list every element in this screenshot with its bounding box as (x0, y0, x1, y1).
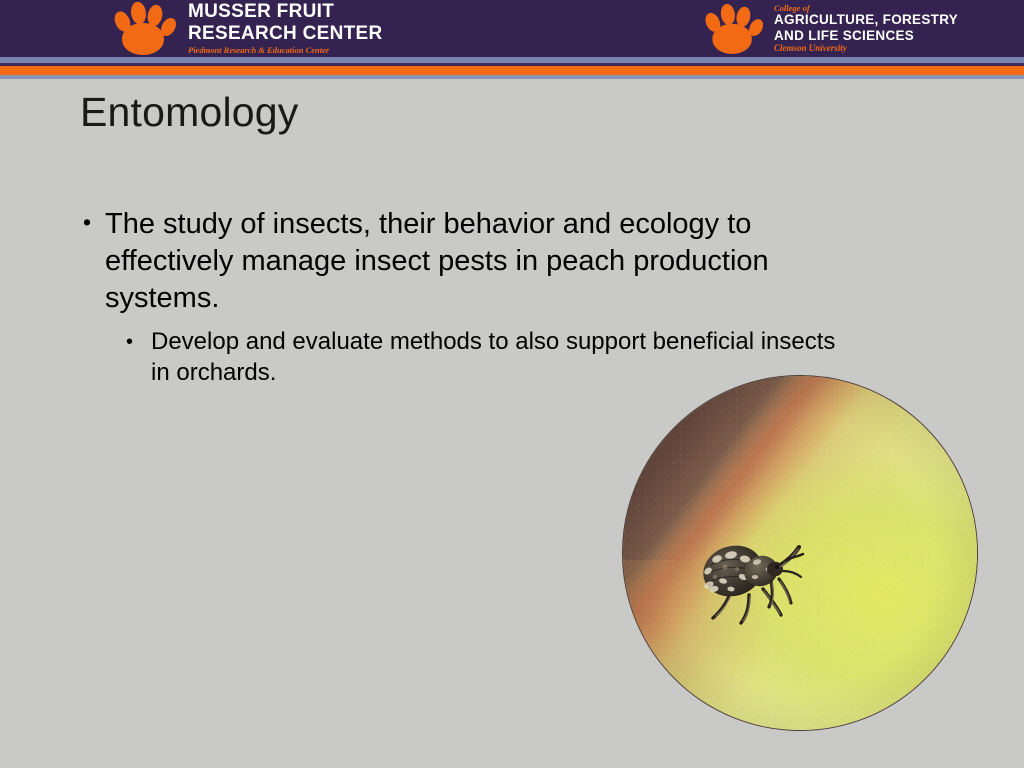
presentation-slide: MUSSER FRUIT RESEARCH CENTER Piedmont Re… (0, 0, 1024, 768)
clemson-tiger-paw-icon (112, 1, 178, 56)
right-logo-subtitle: Clemson University (774, 44, 958, 53)
slide-body: • The study of insects, their behavior a… (78, 206, 858, 389)
right-logo-line-2: AND LIFE SCIENCES (774, 29, 958, 43)
right-logo-pretitle: College of (774, 4, 958, 13)
page-title: Entomology (80, 89, 299, 136)
bullet-text: The study of insects, their behavior and… (105, 208, 769, 314)
clemson-tiger-paw-icon (703, 3, 765, 55)
bullet-marker-icon: • (83, 206, 91, 240)
header-stripe-blue-bottom (0, 75, 1024, 79)
plum-curculio-weevil-on-peach-photo (622, 375, 978, 731)
left-logo-subtitle: Piedmont Research & Education Center (188, 46, 383, 55)
left-logo-line-1: MUSSER FRUIT (188, 2, 383, 21)
clemson-cafls-logo: College of AGRICULTURE, FORESTRY AND LIF… (703, 0, 958, 57)
header-stripe-orange (0, 66, 1024, 75)
left-logo-line-2: RESEARCH CENTER (188, 24, 383, 43)
musser-fruit-research-center-logo: MUSSER FRUIT RESEARCH CENTER Piedmont Re… (112, 0, 383, 57)
bullet-marker-icon: • (126, 327, 133, 357)
right-logo-line-1: AGRICULTURE, FORESTRY (774, 13, 958, 27)
photo-vignette (623, 376, 977, 730)
bullet-item-level-1: • The study of insects, their behavior a… (78, 206, 858, 316)
